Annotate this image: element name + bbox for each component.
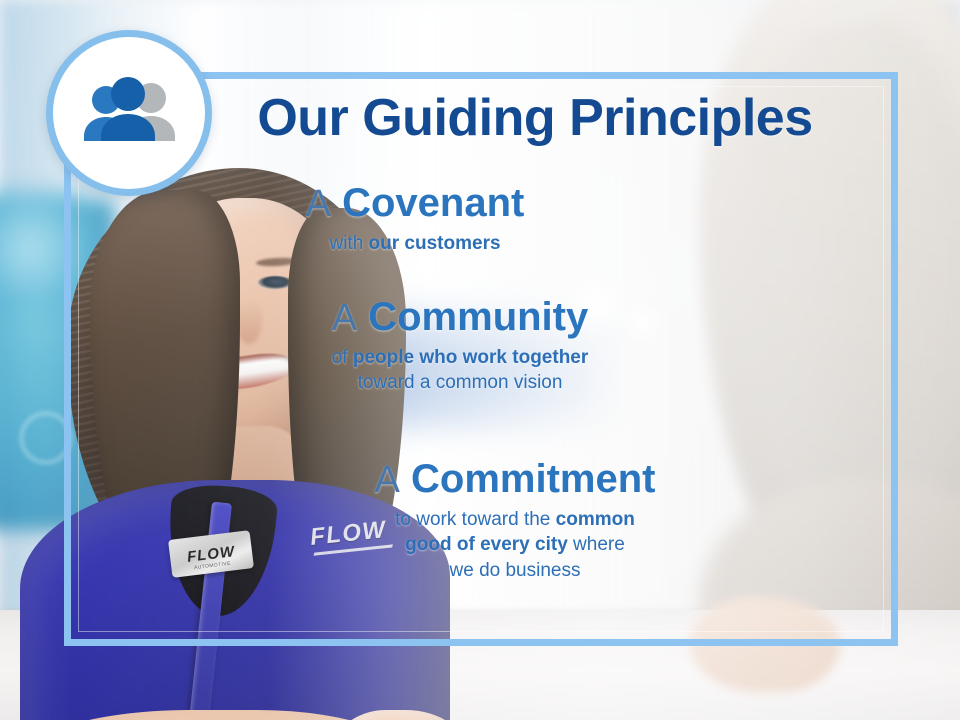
principle-community: A Community of people who work togethert…: [0, 296, 960, 396]
guiding-principles-graphic: FLOW AUTOMOTIVE FLOW: [0, 0, 960, 720]
plain-text: toward a common vision: [358, 372, 563, 393]
principle-community-subtext: of people who work togethertoward a comm…: [0, 345, 920, 396]
plain-text: with: [329, 233, 368, 254]
principle-commitment-heading: A Commitment: [70, 458, 960, 501]
people-icon-badge: [46, 30, 212, 196]
principle-community-heading: A Community: [0, 296, 920, 339]
plain-text: where: [568, 534, 625, 555]
principle-commitment-subtext: to work toward the commongood of every c…: [70, 507, 960, 583]
principle-article: A: [332, 297, 357, 339]
emphasised-text: people who work together: [353, 347, 588, 368]
principle-keyword: Covenant: [342, 181, 524, 225]
emphasised-text: good of every city: [405, 534, 568, 555]
emphasised-text: our customers: [369, 233, 501, 254]
principle-keyword: Commitment: [411, 457, 655, 501]
principle-covenant-subtext: with our customers: [0, 231, 830, 256]
principle-article: A: [306, 183, 331, 225]
emphasised-text: common: [556, 509, 635, 530]
principle-commitment: A Commitment to work toward the commongo…: [0, 458, 960, 583]
people-group-icon: [77, 76, 181, 150]
plain-text: to work toward the: [395, 509, 556, 530]
plain-text: we do business: [450, 560, 581, 581]
principle-article: A: [375, 459, 400, 501]
principle-keyword: Community: [368, 295, 588, 339]
plain-text: of: [332, 347, 353, 368]
